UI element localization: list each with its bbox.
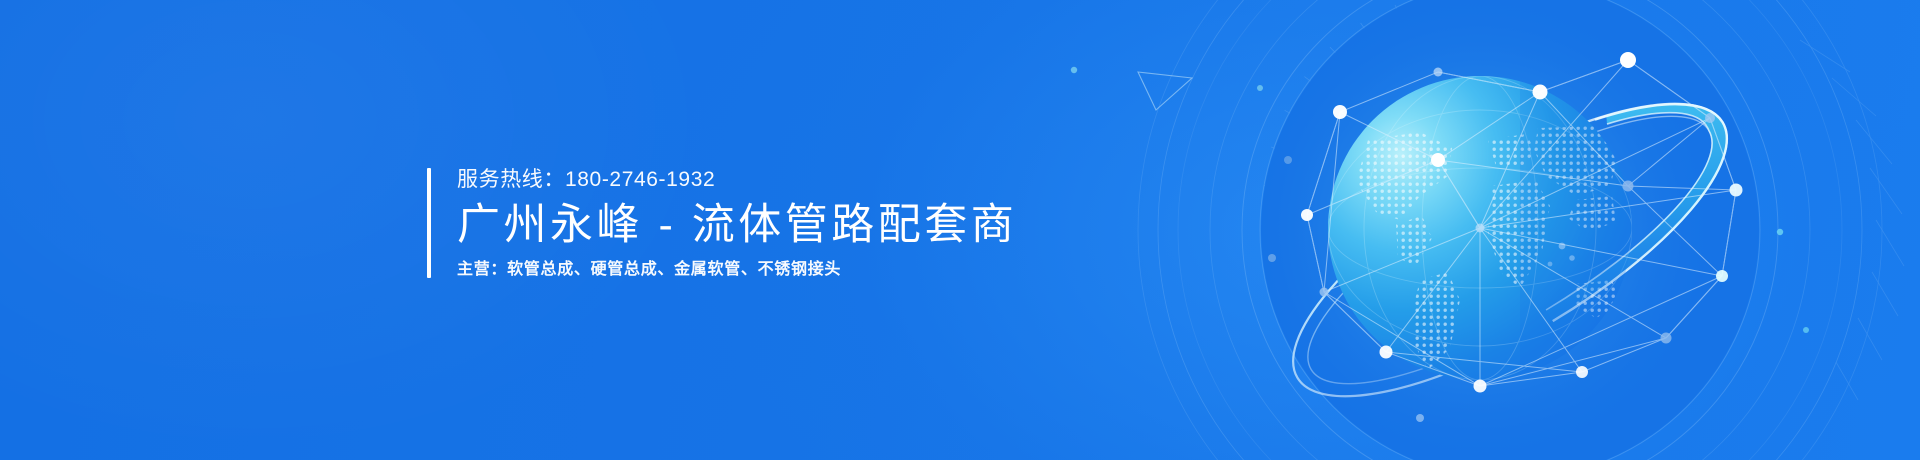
hero-banner: 服务热线：180-2746-1932 广州永峰 - 流体管路配套商 主营：软管总… bbox=[0, 0, 1920, 460]
network-node bbox=[1320, 288, 1329, 297]
network-node bbox=[1380, 346, 1393, 359]
network-node bbox=[1333, 105, 1347, 119]
network-node bbox=[1257, 85, 1263, 91]
network-node bbox=[1284, 156, 1292, 164]
network-node bbox=[1416, 414, 1424, 422]
network-node bbox=[1777, 229, 1783, 235]
network-node bbox=[1434, 68, 1443, 77]
network-node bbox=[1071, 67, 1077, 73]
network-node bbox=[1623, 181, 1634, 192]
network-node bbox=[1476, 224, 1485, 233]
service-hotline: 服务热线：180-2746-1932 bbox=[457, 168, 1017, 192]
network-node bbox=[1661, 333, 1672, 344]
network-node bbox=[1716, 270, 1728, 282]
network-node bbox=[1301, 209, 1313, 221]
network-node bbox=[1705, 113, 1715, 123]
banner-headline: 广州永峰 - 流体管路配套商 bbox=[457, 199, 1017, 251]
banner-copy-text: 服务热线：180-2746-1932 广州永峰 - 流体管路配套商 主营：软管总… bbox=[431, 168, 1017, 278]
banner-copy-block: 服务热线：180-2746-1932 广州永峰 - 流体管路配套商 主营：软管总… bbox=[427, 168, 1017, 278]
network-node bbox=[1533, 85, 1548, 100]
network-node bbox=[1268, 254, 1276, 262]
network-node bbox=[1803, 327, 1809, 333]
network-node bbox=[1730, 184, 1743, 197]
banner-subheadline: 主营：软管总成、硬管总成、金属软管、不锈钢接头 bbox=[457, 259, 1017, 281]
network-node bbox=[1431, 153, 1445, 167]
network-node bbox=[1620, 52, 1636, 68]
network-node bbox=[1474, 380, 1487, 393]
network-node bbox=[1576, 366, 1588, 378]
